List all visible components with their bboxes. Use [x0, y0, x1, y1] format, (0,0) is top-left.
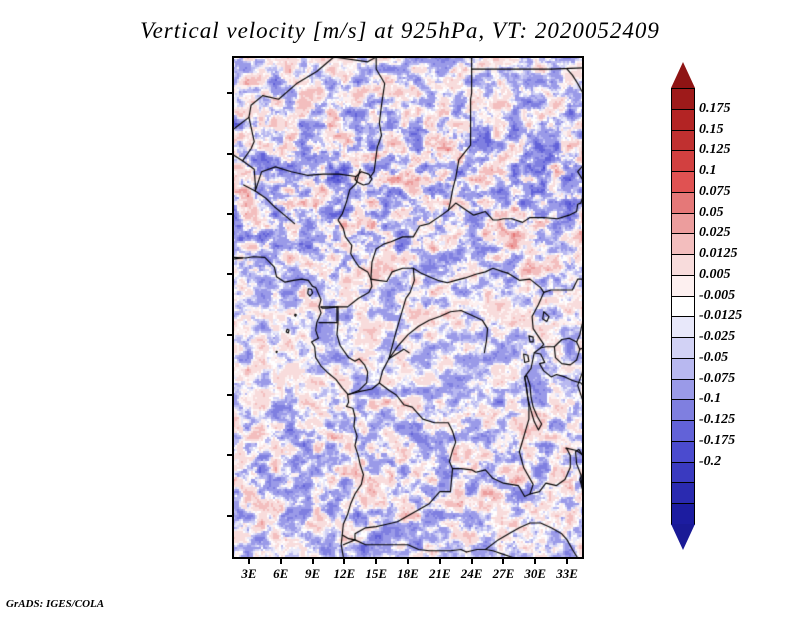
colorbar-segment [671, 296, 695, 318]
x-tick-mark [407, 558, 409, 564]
colorbar-tick-label: 0.15 [699, 122, 724, 138]
colorbar-tick-label: 0.175 [699, 101, 731, 117]
y-tick-mark [227, 394, 233, 396]
x-tick-mark [439, 558, 441, 564]
x-tick-mark [566, 558, 568, 564]
x-tick-mark [248, 558, 250, 564]
y-tick-mark [227, 153, 233, 155]
colorbar-segment [671, 337, 695, 359]
y-tick-mark [227, 515, 233, 517]
x-tick-mark [375, 558, 377, 564]
colorbar-segment [671, 171, 695, 193]
y-tick-mark [227, 273, 233, 275]
colorbar-segment [671, 420, 695, 442]
colorbar-segment [671, 462, 695, 484]
colorbar-segment [671, 441, 695, 463]
colorbar-tick-label: 0.025 [699, 225, 731, 241]
colorbar-tick-label: 0.075 [699, 184, 731, 200]
colorbar-segment [671, 150, 695, 172]
y-tick-mark [227, 213, 233, 215]
colorbar-segment [671, 233, 695, 255]
colorbar-segment [671, 358, 695, 380]
page-title: Vertical velocity [m/s] at 925hPa, VT: 2… [0, 18, 800, 44]
y-tick-mark [227, 334, 233, 336]
vertical-velocity-heatmap [233, 57, 583, 558]
colorbar-segment [671, 399, 695, 421]
colorbar-tick-label: -0.1 [699, 391, 721, 407]
colorbar-tick-label: 0.125 [699, 142, 731, 158]
colorbar: 0.1750.150.1250.10.0750.050.0250.01250.0… [671, 62, 695, 550]
colorbar-tick-label: -0.005 [699, 288, 735, 304]
footer-credit: GrADS: IGES/COLA [6, 598, 104, 610]
x-tick-label: 33E [547, 566, 587, 582]
colorbar-tick-label: -0.125 [699, 412, 735, 428]
colorbar-tick-label: -0.0125 [699, 308, 742, 324]
colorbar-tick-label: -0.2 [699, 454, 721, 470]
y-tick-mark [227, 454, 233, 456]
colorbar-tick-label: 0.005 [699, 267, 731, 283]
colorbar-tick-label: -0.175 [699, 433, 735, 449]
colorbar-top-arrow [671, 62, 695, 88]
x-tick-mark [343, 558, 345, 564]
colorbar-segment [671, 275, 695, 297]
colorbar-segment [671, 482, 695, 504]
x-tick-mark [502, 558, 504, 564]
colorbar-segment [671, 130, 695, 152]
colorbar-segment [671, 379, 695, 401]
colorbar-segment [671, 503, 695, 525]
colorbar-tick-label: 0.0125 [699, 246, 738, 262]
colorbar-bottom-arrow [671, 524, 695, 550]
y-tick-mark [227, 92, 233, 94]
colorbar-tick-label: -0.075 [699, 371, 735, 387]
x-tick-mark [312, 558, 314, 564]
x-tick-mark [534, 558, 536, 564]
colorbar-tick-label: 0.1 [699, 163, 717, 179]
colorbar-tick-label: -0.05 [699, 350, 728, 366]
colorbar-segment [671, 254, 695, 276]
colorbar-tick-label: 0.05 [699, 205, 724, 221]
x-tick-mark [280, 558, 282, 564]
colorbar-segment [671, 109, 695, 131]
colorbar-segment [671, 192, 695, 214]
colorbar-segment [671, 316, 695, 338]
x-tick-mark [471, 558, 473, 564]
map-plot-area [233, 57, 583, 558]
colorbar-segment [671, 213, 695, 235]
colorbar-segment [671, 88, 695, 110]
colorbar-tick-label: -0.025 [699, 329, 735, 345]
